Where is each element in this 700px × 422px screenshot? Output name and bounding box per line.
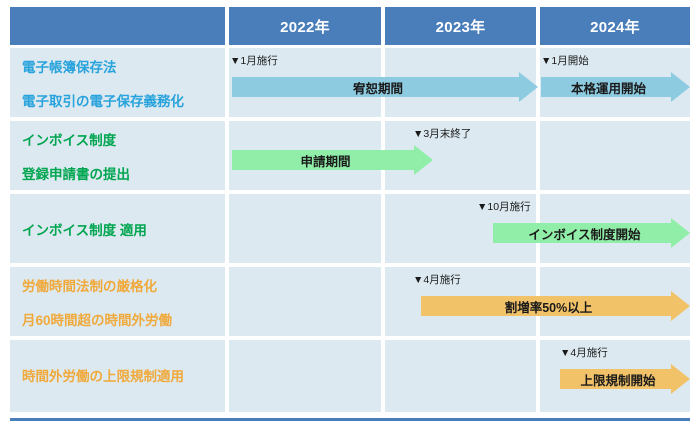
milestone-label: ▼1月開始 xyxy=(541,55,589,67)
timeline-header: 2022年 2023年 2024年 xyxy=(0,7,700,45)
milestone-marker: ▼1月開始 xyxy=(541,56,589,67)
bar-arrowhead xyxy=(671,218,690,248)
timeline-row: 時間外労働の上限規制適用 ▼4月施行 上限規制開始 xyxy=(0,340,700,412)
header-year-2023: 2023年 xyxy=(385,7,536,45)
timeline-bar: 上限規制開始 xyxy=(560,364,690,394)
header-year-2022: 2022年 xyxy=(229,7,381,45)
milestone-marker: ▼10月施行 xyxy=(477,202,531,213)
bar-label: 割増率50%以上 xyxy=(505,297,607,316)
bar-arrowhead xyxy=(414,145,433,175)
row-cell-2024 xyxy=(540,121,690,190)
bar-label: 上限規制開始 xyxy=(580,370,669,389)
row-label-line2: 月60時間超の時間外労働 xyxy=(22,313,222,330)
header-year-2024: 2024年 xyxy=(540,7,690,45)
milestone-label: ▼10月施行 xyxy=(477,201,531,213)
timeline-row: インボイス制度 適用 ▼10月施行 インボイス制度開始 xyxy=(0,194,700,263)
row-label-line1: インボイス制度 適用 xyxy=(22,223,222,240)
timeline-bar: 本格運用開始 xyxy=(541,72,690,102)
row-cell-2022 xyxy=(229,267,381,336)
timeline-bar: 申請期間 xyxy=(232,145,433,175)
header-label-column xyxy=(10,7,225,45)
bar-label: インボイス制度開始 xyxy=(528,224,654,243)
bar-label: 宥恕期間 xyxy=(353,78,417,97)
bar-label: 申請期間 xyxy=(300,151,364,170)
bar-arrowhead xyxy=(671,364,690,394)
row-label-line1: 労働時間法制の厳格化 xyxy=(22,279,222,296)
row-label-line2: 電子取引の電子保存義務化 xyxy=(22,94,222,111)
row-label-line1: 時間外労働の上限規制適用 xyxy=(22,369,222,386)
milestone-marker: ▼1月施行 xyxy=(230,56,278,67)
milestone-marker: ▼3月末終了 xyxy=(413,129,471,140)
milestone-label: ▼4月施行 xyxy=(560,347,608,359)
bar-label: 本格運用開始 xyxy=(571,78,660,97)
milestone-label: ▼4月施行 xyxy=(413,274,461,286)
timeline-bar: 宥恕期間 xyxy=(232,72,538,102)
timeline-row: 電子帳簿保存法 電子取引の電子保存義務化 ▼1月施行 ▼1月開始 宥恕期間 本格… xyxy=(0,48,700,117)
row-cell-2022 xyxy=(229,340,381,412)
row-label-line2: 登録申請書の提出 xyxy=(22,167,222,184)
timeline-bar: 割増率50%以上 xyxy=(421,291,690,321)
bar-arrowhead xyxy=(671,72,690,102)
milestone-marker: ▼4月施行 xyxy=(560,348,608,359)
bottom-divider xyxy=(10,418,690,421)
timeline-row: インボイス制度 登録申請書の提出 ▼3月末終了 申請期間 xyxy=(0,121,700,190)
timeline-row: 労働時間法制の厳格化 月60時間超の時間外労働 ▼4月施行 割増率50%以上 xyxy=(0,267,700,336)
row-label-line1: 電子帳簿保存法 xyxy=(22,60,222,77)
bar-arrowhead xyxy=(671,291,690,321)
milestone-label: ▼3月末終了 xyxy=(413,128,471,140)
bar-arrowhead xyxy=(519,72,538,102)
timeline-bar: インボイス制度開始 xyxy=(493,218,690,248)
timeline-chart: 2022年 2023年 2024年 電子帳簿保存法 電子取引の電子保存義務化 ▼… xyxy=(0,0,700,422)
row-cell-2023 xyxy=(385,340,536,412)
milestone-label: ▼1月施行 xyxy=(230,55,278,67)
row-label-line1: インボイス制度 xyxy=(22,133,222,150)
milestone-marker: ▼4月施行 xyxy=(413,275,461,286)
row-cell-2022 xyxy=(229,194,381,263)
